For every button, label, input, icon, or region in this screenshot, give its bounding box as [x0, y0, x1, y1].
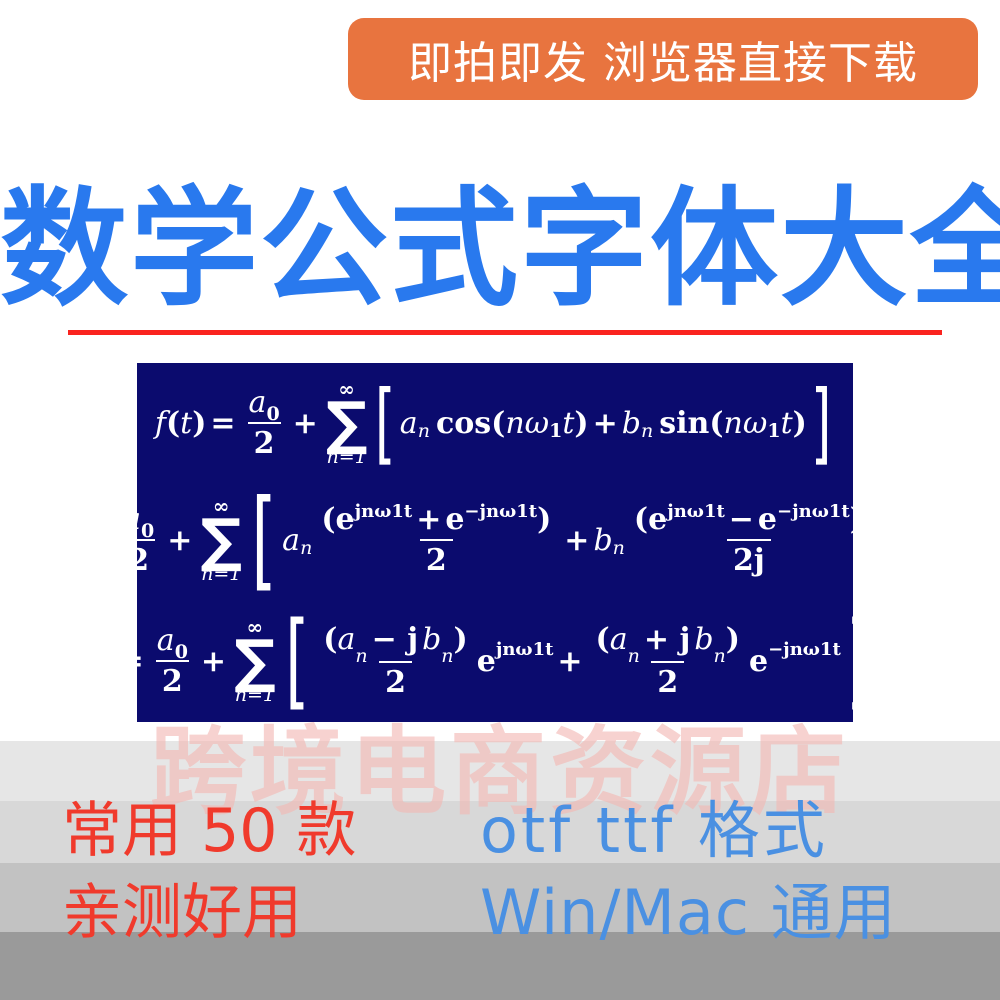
- var-t-1: t: [180, 406, 192, 441]
- plus-j-l3: + j: [640, 622, 694, 657]
- page-title: 数学公式字体大全: [0, 186, 1000, 314]
- bracket-close-line1: ]: [811, 388, 832, 458]
- fraction-an-plus-jbn-over-2: (an+ jbn) 2: [590, 622, 746, 699]
- var-b-n-l3d: b: [694, 622, 713, 657]
- fraction-a0-over-2-line3: a0 2: [151, 623, 194, 699]
- sum-lower-limit: n=1: [327, 448, 367, 467]
- fraction-a0-over-2-line1: a0 2: [243, 385, 286, 461]
- fraction-denominator: 2: [248, 422, 281, 461]
- var-n-cos: n: [505, 406, 524, 441]
- fraction-numerator: a0: [137, 502, 160, 539]
- paren-open-cos: (: [491, 406, 505, 441]
- var-b-n-l2: b: [593, 523, 612, 558]
- plus-l2: +: [163, 523, 196, 558]
- omega-sub-sin: 1: [767, 420, 780, 442]
- var-a-n-l2: a: [282, 523, 300, 558]
- fraction-a0-over-2-line2: a0 2: [137, 502, 160, 578]
- fraction-numerator: (ejnω1t−e−jnω1t): [628, 502, 853, 539]
- sub-0: 0: [266, 403, 279, 425]
- bracket-close-line3: ]: [846, 619, 853, 702]
- sub-n-a-l2: n: [300, 537, 312, 559]
- fraction-denominator: 2: [379, 661, 412, 700]
- exponent-positive-1: jnω1t: [355, 501, 413, 522]
- fraction-denominator: 2: [420, 539, 453, 578]
- plus-l2-2: +: [560, 523, 593, 558]
- exponent-positive-2: jnω1t: [667, 501, 725, 522]
- fraction-numerator: a0: [151, 623, 194, 660]
- sigma-icon: ∑: [326, 399, 368, 448]
- bracket-open-line3: [: [285, 619, 309, 702]
- plus-l3-2: +: [553, 644, 586, 679]
- sub-0-l2: 0: [141, 520, 154, 542]
- paren-close: ): [454, 622, 468, 657]
- var-t-sin: t: [781, 406, 793, 441]
- var-b-n-l3a: b: [422, 622, 441, 657]
- euler-e-3: e: [648, 502, 667, 537]
- var-a-0-l3: a: [157, 623, 175, 658]
- var-a-n-l3c: a: [610, 622, 628, 657]
- equals-3: =: [137, 644, 148, 679]
- formula-line-2: = a0 2 + ∞ ∑ n=1 [ an (ejnω1t+e−jnω1t) 2…: [137, 485, 853, 595]
- var-b-n-1: b: [622, 406, 641, 441]
- paren-open-1: (: [166, 406, 180, 441]
- sum-lower-limit: n=1: [235, 686, 275, 705]
- plus-2: +: [589, 406, 622, 441]
- var-t-cos: t: [562, 406, 574, 441]
- poster-canvas: 跨境电商资源店 即拍即发 浏览器直接下载 数学公式字体大全 f ( t ) = …: [0, 0, 1000, 1000]
- feature-format-label: otf ttf 格式: [480, 780, 828, 870]
- sum-lower-limit: n=1: [201, 565, 241, 584]
- feature-count-label: 常用 50 款: [62, 782, 357, 869]
- promo-banner-text: 即拍即发 浏览器直接下载: [408, 27, 918, 91]
- sigma-icon: ∑: [200, 516, 242, 565]
- sub-0-l3: 0: [175, 641, 188, 663]
- fraction-denominator: 2: [651, 661, 684, 700]
- fraction-numerator: (an+ jbn): [590, 622, 746, 660]
- exponent-negative-2: −jnω1t: [777, 501, 850, 522]
- sigma-icon: ∑: [234, 637, 276, 686]
- equals-1: =: [206, 406, 239, 441]
- fraction-denominator: 2: [137, 539, 155, 578]
- fraction-an-minus-jbn-over-2: (an− jbn) 2: [317, 622, 473, 699]
- plus-l3: +: [197, 644, 230, 679]
- exponent-positive-l3: jnω1t: [496, 639, 554, 660]
- sub-n-b1: n: [641, 420, 653, 442]
- fraction-numerator: a0: [243, 385, 286, 422]
- feature-tested-label: 亲测好用: [62, 864, 302, 951]
- sub-n-l3d: n: [714, 645, 726, 667]
- exponent-negative-1: −jnω1t: [464, 501, 537, 522]
- exponent-negative-l3: −jnω1t: [768, 639, 841, 660]
- euler-e-l3a: e: [477, 644, 496, 679]
- euler-e-4: e: [758, 502, 777, 537]
- bracket-open-line1: [: [375, 388, 396, 458]
- paren-close: ): [726, 622, 740, 657]
- omega-sin: ω: [743, 406, 767, 441]
- sub-n-b-l2: n: [613, 537, 625, 559]
- paren-close: ): [850, 502, 853, 537]
- fraction-numerator: (ejnω1t+e−jnω1t): [315, 502, 557, 539]
- euler-e-l3b: e: [749, 644, 768, 679]
- sub-n-l3c: n: [628, 645, 640, 667]
- paren-close-1: ): [192, 406, 206, 441]
- paren-open: (: [323, 622, 337, 657]
- fn-f: f: [155, 406, 166, 441]
- summation-line1: ∞ ∑ n=1: [326, 379, 368, 467]
- title-underline-rule: [68, 330, 942, 335]
- cos-function: cos: [436, 406, 491, 441]
- paren-open-sin: (: [709, 406, 723, 441]
- paren-close-cos: ): [574, 406, 588, 441]
- feature-platform-label: Win/Mac 通用: [480, 862, 897, 952]
- sub-n-a1: n: [418, 420, 430, 442]
- euler-e-1: e: [336, 502, 355, 537]
- summation-line3: ∞ ∑ n=1: [234, 617, 276, 705]
- paren-open: (: [596, 622, 610, 657]
- paren-open: (: [634, 502, 648, 537]
- sub-n-l3a: n: [355, 645, 367, 667]
- plus-inner-1: +: [412, 502, 445, 537]
- promo-banner: 即拍即发 浏览器直接下载: [348, 18, 978, 100]
- var-a-0: a: [249, 385, 267, 420]
- omega-sub-cos: 1: [549, 420, 562, 442]
- fraction-denominator: 2j: [727, 539, 771, 578]
- fraction-denominator: 2: [156, 660, 189, 699]
- sin-function: sin: [659, 406, 709, 441]
- bracket-open-line2: [: [251, 497, 276, 583]
- formula-image-panel: f ( t ) = a0 2 + ∞ ∑ n=1 [ an cos ( n ω1…: [137, 363, 853, 722]
- euler-e-2: e: [445, 502, 464, 537]
- fraction-numerator: (an− jbn): [317, 622, 473, 660]
- fraction-cosine-exponential: (ejnω1t+e−jnω1t) 2: [315, 502, 557, 578]
- formula-line-1: f ( t ) = a0 2 + ∞ ∑ n=1 [ an cos ( n ω1…: [137, 373, 853, 473]
- paren-close: ): [537, 502, 551, 537]
- plus-1: +: [289, 406, 322, 441]
- fraction-sine-exponential: (ejnω1t−e−jnω1t) 2j: [628, 502, 853, 578]
- var-a-n-l3a: a: [337, 622, 355, 657]
- omega-cos: ω: [525, 406, 549, 441]
- formula-line-3: = a0 2 + ∞ ∑ n=1 [ (an− jbn) 2 ejnω1t +: [137, 606, 853, 716]
- var-a-n-1: a: [400, 406, 418, 441]
- minus-inner-1: −: [725, 502, 758, 537]
- minus-j-l3: − j: [368, 622, 422, 657]
- paren-open: (: [321, 502, 335, 537]
- var-n-sin: n: [724, 406, 743, 441]
- summation-line2: ∞ ∑ n=1: [200, 496, 242, 584]
- paren-close-sin: ): [793, 406, 807, 441]
- sub-n-l3b: n: [441, 645, 453, 667]
